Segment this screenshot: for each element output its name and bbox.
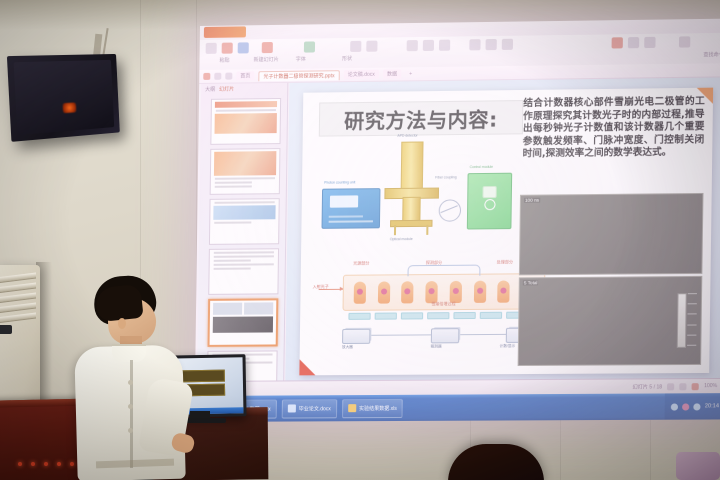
find-replace-icon[interactable] <box>612 37 623 48</box>
doc-icon <box>288 404 296 412</box>
detector-cell <box>480 312 502 319</box>
projected-desktop: 粘贴 新建幻灯片 字体 形状 <box>194 19 720 422</box>
doc-tab-data[interactable]: 数据 <box>383 69 401 78</box>
list-item[interactable]: 1 <box>210 98 281 145</box>
ribbon-group-label-clipboard: 粘贴 <box>219 57 229 64</box>
taskbar-clock[interactable]: 20:14 <box>705 403 719 409</box>
projection-screen: 粘贴 新建幻灯片 字体 形状 <box>194 19 720 422</box>
numbering-icon[interactable] <box>439 40 450 51</box>
volume-icon[interactable] <box>682 403 689 410</box>
detector-cell-row <box>348 312 528 320</box>
thumb-line <box>214 221 251 223</box>
text-direction-icon[interactable] <box>486 39 497 50</box>
presenter <box>74 276 186 480</box>
ribbon-search-label[interactable]: 查找命令 <box>703 51 720 58</box>
list-item[interactable]: 4 <box>208 248 279 295</box>
slide-counter: 幻灯片 5 / 18 <box>633 383 663 390</box>
ac-vent <box>0 303 36 314</box>
foreground-object <box>676 452 720 480</box>
new-tab-button[interactable]: + <box>405 70 416 78</box>
presenter-shirt-button <box>128 404 133 409</box>
columns-icon[interactable] <box>502 39 513 50</box>
windows-taskbar[interactable]: 光子计数器.pptx 毕业论文.docx 实验结果数据.xls 20:14 <box>194 393 720 422</box>
wall-seam <box>650 420 651 480</box>
page-title: 研究方法与内容: <box>344 103 498 134</box>
ac-vent <box>0 313 36 324</box>
thumb-line <box>214 255 274 258</box>
xls-icon <box>348 404 356 412</box>
diagram-row-label-1: 光源部分 <box>353 261 369 267</box>
green-display-area <box>482 186 496 198</box>
thumb-line <box>215 177 275 180</box>
window-restore-icon[interactable] <box>679 36 690 47</box>
bullets-icon[interactable] <box>423 40 434 51</box>
chain-connector <box>368 334 431 335</box>
speaker-grille <box>14 60 115 135</box>
presenter-shirt-placket <box>130 360 133 468</box>
cut-icon[interactable] <box>222 43 233 54</box>
diagram-label-coil: Fiber coupling <box>435 175 457 179</box>
align-icon[interactable] <box>407 40 418 51</box>
amplifier-box <box>342 329 370 344</box>
floor-air-conditioner <box>0 265 40 415</box>
font-icon[interactable] <box>304 41 315 52</box>
ac-vent <box>0 273 36 284</box>
carrier-node <box>449 281 461 303</box>
wps-logo-icon <box>204 26 246 38</box>
diagram-label-green: Control module <box>470 165 493 169</box>
system-tray[interactable]: 20:14 <box>665 393 720 420</box>
apd-leg <box>426 225 428 235</box>
presenter-collar <box>112 344 146 362</box>
doc-tab-home[interactable]: 首页 <box>236 71 254 80</box>
thumb-line <box>214 263 274 266</box>
taskbar-item-docx[interactable]: 毕业论文.docx <box>282 399 338 418</box>
format-painter-icon[interactable] <box>238 42 249 53</box>
undo-icon[interactable] <box>214 73 221 80</box>
filter-icon[interactable] <box>644 37 655 48</box>
arrange-icon[interactable] <box>366 41 377 52</box>
diagram-row-label-3: 处理部分 <box>497 259 513 265</box>
lecture-room-scene: 粘贴 新建幻灯片 字体 形状 <box>0 0 720 480</box>
diagram-label-gold: APD detector <box>397 133 417 137</box>
speaker-power-led-icon <box>62 102 76 113</box>
ac-vent <box>0 283 36 294</box>
paste-icon[interactable] <box>206 43 217 54</box>
detector-cell <box>401 312 423 319</box>
avalanche-band: 雪崩倍增过程 <box>343 273 546 311</box>
thumbnail-panel-header: 大纲 幻灯片 <box>201 83 287 95</box>
thumb-line <box>214 260 251 262</box>
ribbon-group-label-font: 字体 <box>296 56 306 63</box>
save-icon[interactable] <box>203 73 210 80</box>
wall-seam <box>560 420 561 480</box>
normal-view-icon[interactable] <box>667 383 674 390</box>
shapes-icon[interactable] <box>350 41 361 52</box>
thumb-line <box>214 251 274 254</box>
list-item-selected[interactable]: 5 <box>208 298 279 347</box>
panel-scale-ticks <box>687 293 697 346</box>
outline-tab[interactable]: 大纲 <box>205 86 215 93</box>
apd-leg <box>394 225 396 235</box>
optical-setup-diagram: Photon counting unit APD detector <box>315 140 519 253</box>
thumb-line <box>214 268 251 270</box>
ribbon-group-label-newslide: 新建幻灯片 <box>254 56 279 63</box>
detector-cell <box>375 313 397 320</box>
signal-chain: 放大器 甄别器 计数/显示 <box>342 328 541 359</box>
discriminator-box <box>431 328 460 343</box>
carrier-node <box>354 282 366 304</box>
detector-cell <box>348 313 370 320</box>
network-icon[interactable] <box>671 403 678 410</box>
thumb-title-bar <box>215 101 277 108</box>
carrier-node <box>425 281 437 303</box>
chain-label-1: 放大器 <box>342 345 353 350</box>
blue-detail-line <box>329 215 363 217</box>
taskbar-item-label: 毕业论文.docx <box>299 405 331 412</box>
taskbar-item-xls[interactable]: 实验结果数据.xls <box>342 398 403 417</box>
band-caption: 雪崩倍增过程 <box>431 301 455 307</box>
chain-label-2: 甄别器 <box>431 344 442 349</box>
thumb-line <box>216 109 276 112</box>
diagram-label-gold-base: Optical module <box>390 237 413 241</box>
list-item[interactable]: 3 <box>209 198 280 245</box>
doc-tab-thesis[interactable]: 论文稿.docx <box>344 70 379 79</box>
measurement-panel-bottom[interactable]: 5 Total <box>518 276 703 366</box>
carrier-node <box>498 280 510 302</box>
measurement-panel-top[interactable]: 100 ns <box>519 193 704 275</box>
carrier-node <box>377 281 389 303</box>
carrier-node <box>474 281 486 303</box>
blue-detail-line <box>329 220 373 222</box>
thumb-line <box>215 201 275 204</box>
redo-icon[interactable] <box>225 73 232 80</box>
slide-thumbnail-panel[interactable]: 大纲 幻灯片 1 2 3 <box>197 83 288 382</box>
presenter-shirt-button <box>128 380 133 385</box>
carrier-node <box>401 281 413 303</box>
thumb-line <box>215 185 252 187</box>
slide-title-box[interactable]: 研究方法与内容: <box>319 100 524 137</box>
presenter-shirt-button <box>128 428 133 433</box>
slide-body-text-box[interactable]: 结合计数器核心部件雪崩光电二极管的工作原理探究其计数光子时的内部过程,推导出每秒… <box>522 96 704 162</box>
slide-canvas-area[interactable]: 研究方法与内容: 结合计数器核心部件雪崩光电二极管的工作原理探究其计数光子时的内… <box>285 77 720 381</box>
thumb-line <box>215 181 252 183</box>
blue-display-area <box>330 195 358 207</box>
control-module-shape <box>467 173 512 230</box>
thumb-image <box>214 151 276 176</box>
line-spacing-icon[interactable] <box>469 39 480 50</box>
wall-speaker <box>7 54 120 142</box>
panel-label: 100 ns <box>524 198 540 203</box>
presenter-ear <box>118 318 126 329</box>
detector-cell <box>427 312 449 319</box>
ribbon-group-label-shapes: 形状 <box>342 55 352 62</box>
doc-tab-presentation[interactable]: 光子计数器二极管探测研究.pptx <box>258 70 339 81</box>
input-label: 入射光子 <box>313 284 329 290</box>
avalanche-process-diagram: 光源部分 探测部分 处理部分 入射光子 <box>312 251 546 363</box>
select-icon[interactable] <box>628 37 639 48</box>
panel-intensity-scale <box>677 293 687 348</box>
fiber-coupling-icon <box>439 199 462 221</box>
list-item[interactable]: 2 <box>210 148 281 195</box>
panel-label: 5 Total <box>523 280 539 285</box>
chain-connector <box>457 334 506 335</box>
chain-label-3: 计数/显示 <box>500 344 516 349</box>
thumb-image <box>213 316 273 332</box>
slides-tab[interactable]: 幻灯片 <box>219 86 234 93</box>
zoom-level[interactable]: 100% <box>704 383 717 389</box>
green-dial-icon <box>484 199 495 210</box>
slide-body-text: 结合计数器核心部件雪崩光电二极管的工作原理探究其计数光子时的内部过程,推导出每秒… <box>522 96 704 162</box>
ac-vent <box>0 293 36 304</box>
thumb-grid <box>213 302 273 314</box>
thumb-image <box>213 205 275 220</box>
input-method-icon[interactable] <box>694 403 701 410</box>
slide-sorter-icon[interactable] <box>679 383 686 390</box>
play-slideshow-icon[interactable] <box>692 383 699 390</box>
current-slide[interactable]: 研究方法与内容: 结合计数器核心部件雪崩光电二极管的工作原理探究其计数光子时的内… <box>299 88 713 376</box>
band-bracket <box>408 265 481 277</box>
thumb-image <box>214 113 276 134</box>
photon-counting-unit-shape <box>322 188 381 229</box>
diagram-label-blue: Photon counting unit <box>324 180 355 184</box>
taskbar-item-label: 实验结果数据.xls <box>359 404 397 411</box>
ac-display-panel <box>0 325 12 334</box>
new-slide-icon[interactable] <box>262 42 273 53</box>
detector-cell <box>453 312 475 319</box>
